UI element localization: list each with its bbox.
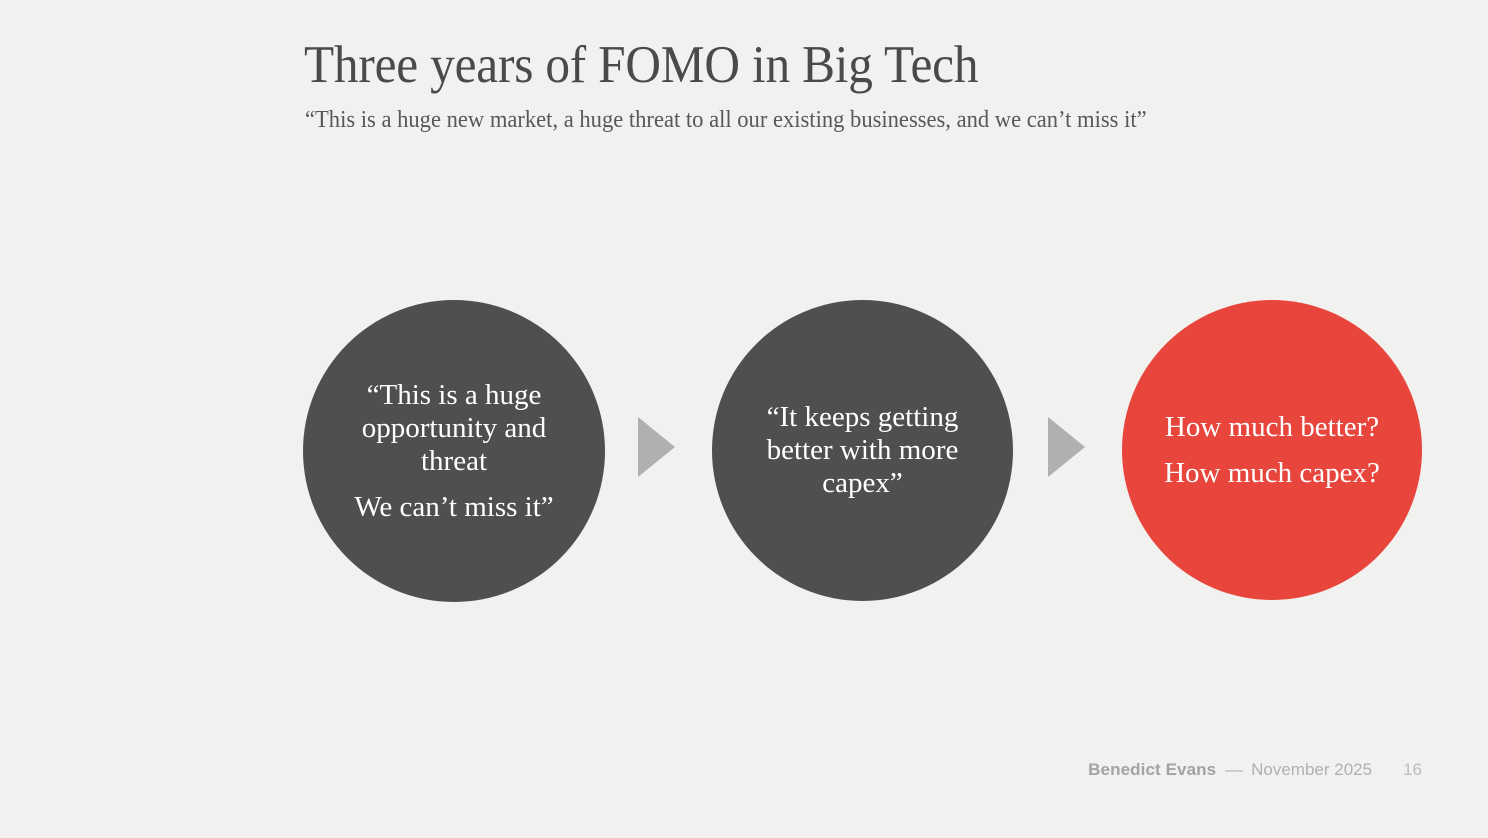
footer-separator: –– <box>1225 760 1242 780</box>
flow-stage-1-line-1: “This is a huge opportunity and threat <box>303 379 605 478</box>
triangle-right-icon <box>638 417 675 477</box>
slide-footer: Benedict Evans –– November 2025 16 <box>1088 760 1422 780</box>
flow-stage-3-line-1: How much better? <box>1122 411 1422 444</box>
flow-stage-2-line-1: “It keeps getting better with more capex… <box>712 401 1013 500</box>
triangle-right-icon <box>1048 417 1085 477</box>
flow-stage-2: “It keeps getting better with more capex… <box>712 300 1013 601</box>
process-flow-diagram: “This is a huge opportunity and threat W… <box>0 0 1488 838</box>
footer-page-number: 16 <box>1403 760 1422 780</box>
flow-stage-1: “This is a huge opportunity and threat W… <box>303 300 605 602</box>
flow-stage-3-line-2: How much capex? <box>1122 457 1422 490</box>
footer-date: November 2025 <box>1251 760 1372 780</box>
flow-stage-1-line-2: We can’t miss it” <box>303 491 605 524</box>
flow-stage-3: How much better? How much capex? <box>1122 300 1422 600</box>
footer-author: Benedict Evans <box>1088 760 1216 780</box>
